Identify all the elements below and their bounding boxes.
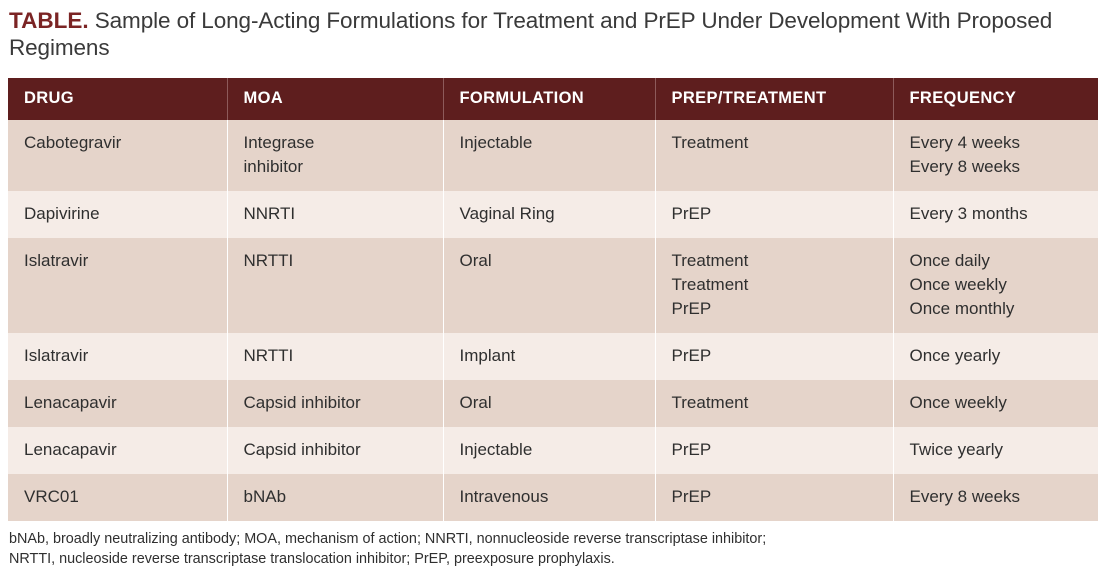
- table-row: Islatravir NRTTI Implant PrEP Once yearl…: [8, 333, 1098, 380]
- cell-moa: Integrase inhibitor: [227, 120, 443, 191]
- cell-moa: NRTTI: [227, 238, 443, 333]
- cell-moa: NRTTI: [227, 333, 443, 380]
- cell-drug: Islatravir: [8, 333, 227, 380]
- cell-drug: Cabotegravir: [8, 120, 227, 191]
- table-row: Dapivirine NNRTI Vaginal Ring PrEP Every…: [8, 191, 1098, 238]
- cell-drug: Lenacapavir: [8, 380, 227, 427]
- table-body: Cabotegravir Integrase inhibitor Injecta…: [8, 120, 1098, 521]
- table-row: Cabotegravir Integrase inhibitor Injecta…: [8, 120, 1098, 191]
- cell-prep-treatment: Treatment: [655, 380, 893, 427]
- cell-frequency: Every 4 weeks Every 8 weeks: [893, 120, 1098, 191]
- table-row: Lenacapavir Capsid inhibitor Injectable …: [8, 427, 1098, 474]
- cell-prep-treatment: PrEP: [655, 427, 893, 474]
- column-header-moa: MOA: [227, 78, 443, 120]
- cell-prep-treatment: Treatment Treatment PrEP: [655, 238, 893, 333]
- cell-formulation: Intravenous: [443, 474, 655, 521]
- cell-drug: Lenacapavir: [8, 427, 227, 474]
- cell-moa: NNRTI: [227, 191, 443, 238]
- cell-frequency: Every 3 months: [893, 191, 1098, 238]
- cell-drug: VRC01: [8, 474, 227, 521]
- page-title: TABLE. Sample of Long-Acting Formulation…: [9, 7, 1099, 61]
- cell-frequency: Once daily Once weekly Once monthly: [893, 238, 1098, 333]
- cell-prep-treatment: PrEP: [655, 191, 893, 238]
- cell-formulation: Oral: [443, 238, 655, 333]
- table-label: TABLE.: [9, 8, 89, 33]
- cell-formulation: Injectable: [443, 427, 655, 474]
- cell-prep-treatment: PrEP: [655, 474, 893, 521]
- cell-frequency: Once weekly: [893, 380, 1098, 427]
- cell-frequency: Every 8 weeks: [893, 474, 1098, 521]
- table-figure: TABLE. Sample of Long-Acting Formulation…: [0, 0, 1112, 588]
- cell-formulation: Vaginal Ring: [443, 191, 655, 238]
- footnote-line-1: bNAb, broadly neutralizing antibody; MOA…: [9, 529, 1105, 549]
- cell-moa: Capsid inhibitor: [227, 427, 443, 474]
- cell-prep-treatment: PrEP: [655, 333, 893, 380]
- table-container: DRUG MOA FORMULATION PREP/TREATMENT FREQ…: [8, 78, 1098, 521]
- column-header-prep-treatment: PREP/TREATMENT: [655, 78, 893, 120]
- cell-moa: Capsid inhibitor: [227, 380, 443, 427]
- cell-drug: Dapivirine: [8, 191, 227, 238]
- formulations-table: DRUG MOA FORMULATION PREP/TREATMENT FREQ…: [8, 78, 1098, 521]
- column-header-frequency: FREQUENCY: [893, 78, 1098, 120]
- table-footnote: bNAb, broadly neutralizing antibody; MOA…: [9, 529, 1105, 569]
- table-row: Islatravir NRTTI Oral Treatment Treatmen…: [8, 238, 1098, 333]
- cell-formulation: Oral: [443, 380, 655, 427]
- table-header-row: DRUG MOA FORMULATION PREP/TREATMENT FREQ…: [8, 78, 1098, 120]
- cell-frequency: Twice yearly: [893, 427, 1098, 474]
- cell-formulation: Injectable: [443, 120, 655, 191]
- column-header-drug: DRUG: [8, 78, 227, 120]
- table-row: VRC01 bNAb Intravenous PrEP Every 8 week…: [8, 474, 1098, 521]
- footnote-line-2: NRTTI, nucleoside reverse transcriptase …: [9, 549, 1105, 569]
- cell-drug: Islatravir: [8, 238, 227, 333]
- cell-frequency: Once yearly: [893, 333, 1098, 380]
- column-header-formulation: FORMULATION: [443, 78, 655, 120]
- cell-moa: bNAb: [227, 474, 443, 521]
- table-header: DRUG MOA FORMULATION PREP/TREATMENT FREQ…: [8, 78, 1098, 120]
- cell-prep-treatment: Treatment: [655, 120, 893, 191]
- cell-formulation: Implant: [443, 333, 655, 380]
- table-row: Lenacapavir Capsid inhibitor Oral Treatm…: [8, 380, 1098, 427]
- table-title-text: Sample of Long-Acting Formulations for T…: [9, 8, 1052, 60]
